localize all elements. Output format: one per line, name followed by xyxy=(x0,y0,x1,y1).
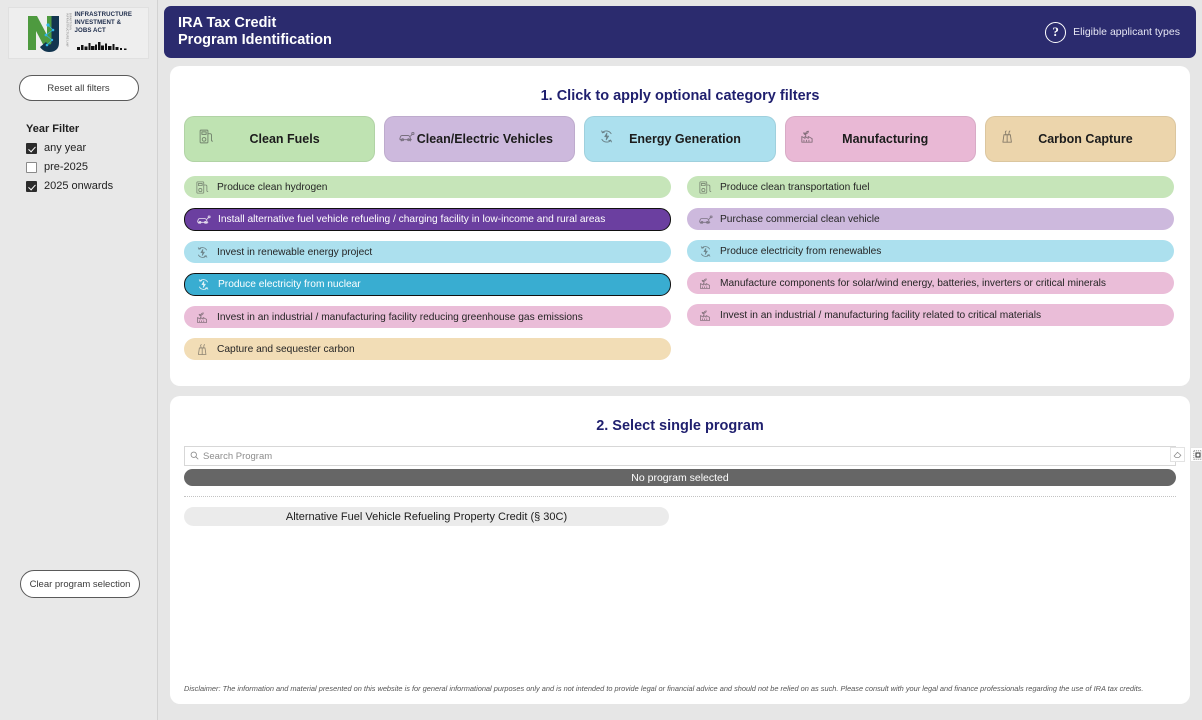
category-button-carbon-capture[interactable]: Carbon Capture xyxy=(985,116,1176,162)
app-header: IRA Tax Credit Program Identification ? … xyxy=(164,6,1196,58)
app-root: BIPARTISAN INFRASTRUCTURE LAW INFRASTRUC… xyxy=(0,0,1202,720)
program-results-list: Alternative Fuel Vehicle Refueling Prope… xyxy=(170,497,1190,526)
factory-leaf-icon xyxy=(191,310,213,325)
subcategory-pill[interactable]: Invest in an industrial / manufacturing … xyxy=(184,306,671,328)
carbon-capture-icon xyxy=(999,128,1016,150)
reset-all-filters-button[interactable]: Reset all filters xyxy=(19,75,139,101)
category-button-row: Clean FuelsClean/Electric VehiclesEnergy… xyxy=(170,116,1190,162)
category-button-clean-fuels[interactable]: Clean Fuels xyxy=(184,116,375,162)
subcategory-pill-label: Produce electricity from nuclear xyxy=(214,279,361,290)
factory-leaf-icon xyxy=(799,128,816,150)
electric-car-icon xyxy=(398,128,415,150)
subcategory-pill-label: Manufacture components for solar/wind en… xyxy=(716,278,1106,289)
search-icon xyxy=(190,447,199,465)
focus-mode-icon[interactable] xyxy=(1190,447,1202,462)
question-circle-icon[interactable]: ? xyxy=(1045,22,1066,43)
program-selection-card: 2. Select single program xyxy=(170,396,1190,704)
section-1-title: 1. Click to apply optional category filt… xyxy=(170,66,1190,116)
logo-line-2: INVESTMENT & xyxy=(75,19,133,26)
subcategory-pill-label: Invest in an industrial / manufacturing … xyxy=(716,310,1041,321)
checkbox-any-year[interactable] xyxy=(26,143,37,154)
category-button-clean-electric-vehicles[interactable]: Clean/Electric Vehicles xyxy=(384,116,575,162)
subcategory-pill[interactable]: Produce electricity from nuclear xyxy=(184,273,671,296)
carbon-capture-icon xyxy=(191,342,213,357)
subcategory-pill-label: Produce clean transportation fuel xyxy=(716,182,870,193)
renewable-energy-icon xyxy=(694,244,716,259)
subcategory-pill[interactable]: Produce clean transportation fuel xyxy=(687,176,1174,198)
subcategory-pill-label: Capture and sequester carbon xyxy=(213,344,355,355)
selected-program-bar[interactable]: No program selected xyxy=(184,469,1176,486)
year-filter-option-2025-onwards[interactable]: 2025 onwards xyxy=(26,180,157,192)
subcategory-pill-label: Produce electricity from renewables xyxy=(716,246,881,257)
eligible-applicant-types-link[interactable]: ? Eligible applicant types xyxy=(1045,22,1180,43)
fuel-pump-icon xyxy=(198,128,215,150)
checkbox-pre-2025[interactable] xyxy=(26,162,37,173)
nj-logo-mark xyxy=(25,13,63,53)
page-title-line-2: Program Identification xyxy=(178,32,332,49)
slicer-header-icons xyxy=(1170,447,1202,462)
pill-column-right: Produce clean transportation fuelPurchas… xyxy=(687,176,1176,360)
renewable-energy-icon xyxy=(192,277,214,292)
program-result-item[interactable]: Alternative Fuel Vehicle Refueling Prope… xyxy=(184,507,669,526)
eraser-icon[interactable] xyxy=(1170,447,1185,462)
skyline-icon xyxy=(75,37,133,55)
subcategory-pill[interactable]: Produce clean hydrogen xyxy=(184,176,671,198)
year-filter-label-any-year: any year xyxy=(44,142,86,154)
sidebar: BIPARTISAN INFRASTRUCTURE LAW INFRASTRUC… xyxy=(0,0,158,720)
electric-car-icon xyxy=(192,212,214,227)
subcategory-pill[interactable]: Install alternative fuel vehicle refueli… xyxy=(184,208,671,231)
year-filter-title: Year Filter xyxy=(26,123,157,135)
year-filter-group: Year Filter any year pre-2025 2025 onwar… xyxy=(26,123,157,192)
page-title: IRA Tax Credit Program Identification xyxy=(178,15,332,49)
year-filter-option-any-year[interactable]: any year xyxy=(26,142,157,154)
subcategory-pill[interactable]: Invest in an industrial / manufacturing … xyxy=(687,304,1174,326)
logo-line-3: JOBS ACT xyxy=(75,27,133,34)
subcategory-pill-grid: Produce clean hydrogenInstall alternativ… xyxy=(170,162,1190,386)
category-filter-card: 1. Click to apply optional category filt… xyxy=(170,66,1190,386)
fuel-pump-icon xyxy=(694,180,716,195)
electric-car-icon xyxy=(694,212,716,227)
logo-side-text: BIPARTISAN INFRASTRUCTURE LAW xyxy=(66,13,72,53)
clear-program-selection-button[interactable]: Clear program selection xyxy=(20,570,140,598)
disclaimer-text: Disclaimer: The information and material… xyxy=(184,684,1176,694)
subcategory-pill-label: Invest in renewable energy project xyxy=(213,247,372,258)
logo-line-1: INFRASTRUCTURE xyxy=(75,11,133,18)
subcategory-pill-label: Install alternative fuel vehicle refueli… xyxy=(214,214,605,225)
nj-logo-svg xyxy=(25,13,63,53)
subcategory-pill-label: Purchase commercial clean vehicle xyxy=(716,214,880,225)
page-title-line-1: IRA Tax Credit xyxy=(178,15,332,32)
iija-logo: BIPARTISAN INFRASTRUCTURE LAW INFRASTRUC… xyxy=(8,7,149,59)
category-button-manufacturing[interactable]: Manufacturing xyxy=(785,116,976,162)
fuel-pump-icon xyxy=(191,180,213,195)
subcategory-pill[interactable]: Purchase commercial clean vehicle xyxy=(687,208,1174,230)
renewable-energy-icon xyxy=(598,128,615,150)
subcategory-pill[interactable]: Produce electricity from renewables xyxy=(687,240,1174,262)
pill-column-left: Produce clean hydrogenInstall alternativ… xyxy=(184,176,673,360)
subcategory-pill[interactable]: Invest in renewable energy project xyxy=(184,241,671,263)
year-filter-label-2025-onwards: 2025 onwards xyxy=(44,180,113,192)
subcategory-pill-label: Produce clean hydrogen xyxy=(213,182,327,193)
section-2-title: 2. Select single program xyxy=(170,396,1190,446)
subcategory-pill-label: Invest in an industrial / manufacturing … xyxy=(213,312,583,323)
year-filter-option-pre-2025[interactable]: pre-2025 xyxy=(26,161,157,173)
subcategory-pill[interactable]: Capture and sequester carbon xyxy=(184,338,671,360)
factory-leaf-icon xyxy=(694,308,716,323)
search-program-row xyxy=(184,446,1176,466)
search-input[interactable] xyxy=(203,451,1175,462)
factory-leaf-icon xyxy=(694,276,716,291)
checkbox-2025-onwards[interactable] xyxy=(26,181,37,192)
main-content: IRA Tax Credit Program Identification ? … xyxy=(158,0,1202,720)
category-button-energy-generation[interactable]: Energy Generation xyxy=(584,116,775,162)
subcategory-pill[interactable]: Manufacture components for solar/wind en… xyxy=(687,272,1174,294)
renewable-energy-icon xyxy=(191,245,213,260)
eligible-applicant-types-label: Eligible applicant types xyxy=(1073,26,1180,38)
year-filter-label-pre-2025: pre-2025 xyxy=(44,161,88,173)
